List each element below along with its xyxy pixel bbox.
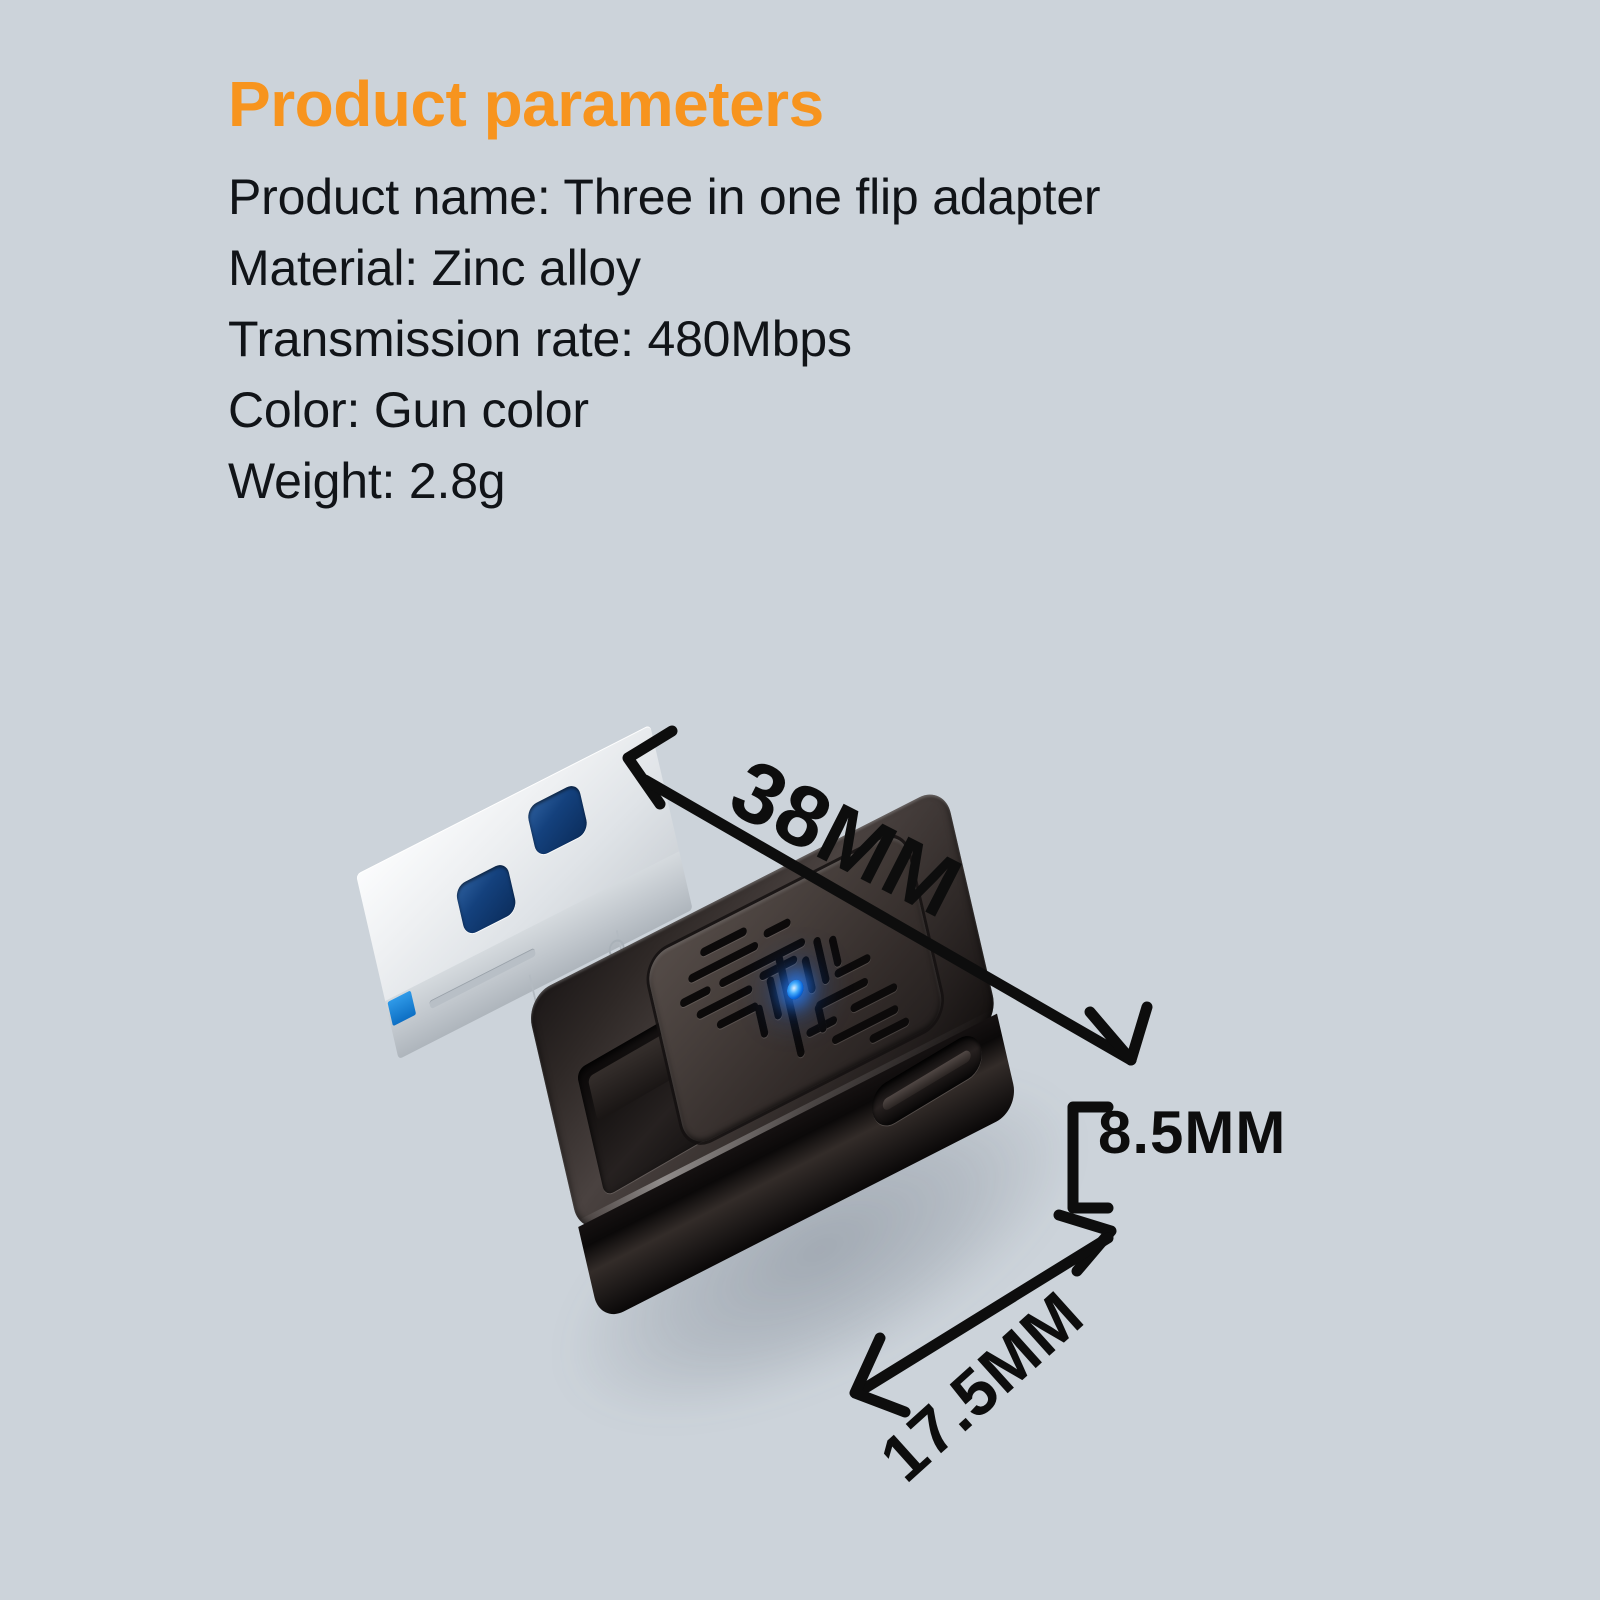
spec-line-transmission-rate: Transmission rate: 480Mbps <box>228 304 1328 375</box>
usb-a-contact-cutout <box>454 861 517 938</box>
spec-panel: Product parameters Product name: Three i… <box>228 72 1328 517</box>
spec-line-color: Color: Gun color <box>228 375 1328 446</box>
spec-line-material: Material: Zinc alloy <box>228 233 1328 304</box>
product-parameters-page: Product parameters Product name: Three i… <box>0 0 1600 1600</box>
spec-line-weight: Weight: 2.8g <box>228 446 1328 517</box>
page-title: Product parameters <box>228 72 1328 136</box>
product-photo <box>300 660 1360 1500</box>
spec-line-product-name: Product name: Three in one flip adapter <box>228 162 1328 233</box>
usb-a-contact-cutout <box>526 782 589 859</box>
